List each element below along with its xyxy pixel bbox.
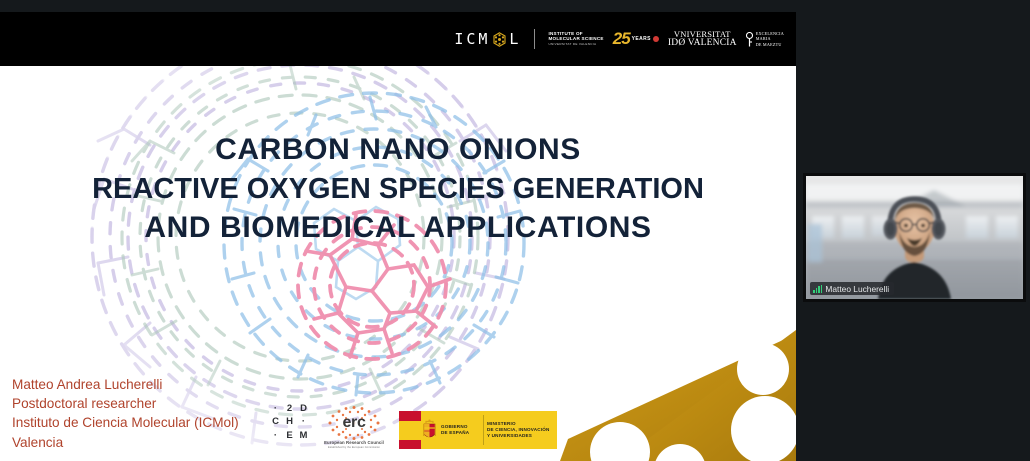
- title-line-1: CARBON NANO ONIONS: [0, 130, 796, 170]
- chem2d-cell-7: E: [284, 430, 295, 443]
- university-line2: IDØ VALENCIA: [668, 39, 737, 49]
- author-block: Matteo Andrea Lucherelli Postdoctoral re…: [12, 375, 239, 452]
- anniversary-logo: 25 YEARS: [613, 29, 659, 49]
- institute-name-block: INSTITUTE OF MOLECULAR SCIENCE UNIVERSIT…: [548, 32, 603, 46]
- slide-header-band: ICM L: [0, 12, 796, 66]
- anniversary-number: 25: [613, 29, 630, 49]
- chem2d-cell-6: ·: [270, 430, 281, 443]
- chem2d-cell-2: D: [298, 403, 309, 416]
- title-line-3: AND BIOMEDICAL APPLICATIONS: [0, 208, 796, 248]
- chem2d-cell-0: ·: [270, 403, 281, 416]
- chem2d-cell-4: H: [284, 416, 295, 429]
- icmol-logo-right: L: [509, 30, 521, 48]
- chem2d-logo: · 2 D C H · · E M: [270, 403, 309, 443]
- ministerio-text: MINISTERIO DE CIENCIA, INNOVACIÓN Y UNIV…: [487, 411, 557, 449]
- author-institute: Instituto de Ciencia Molecular (ICMol): [12, 413, 239, 432]
- institute-line3: UNIVERSITAT DE VALENCIA: [548, 43, 603, 46]
- coat-of-arms-icon: [421, 411, 438, 449]
- title-line-2: REACTIVE OXYGEN SPECIES GENERATION: [0, 170, 796, 209]
- maeztu-line2: MARIA: [756, 36, 771, 41]
- author-city: Valencia: [12, 433, 239, 452]
- maeztu-text: EXCELENCIA MARIA DE MAEZTU: [756, 31, 784, 47]
- gobierno-de-espana-logo: GOBIERNO DE ESPAÑA MINISTERIO DE CIENCIA…: [399, 411, 557, 449]
- meeting-screen: ICM L: [0, 0, 1030, 461]
- gobierno-text: GOBIERNO DE ESPAÑA: [438, 411, 480, 449]
- university-logo: VNIVERSITAT IDØ VALENCIA: [668, 30, 737, 49]
- slide-title: CARBON NANO ONIONS REACTIVE OXYGEN SPECI…: [0, 130, 796, 248]
- erc-logo: erc European Research Council Establishe…: [321, 405, 387, 449]
- erc-caption-2: Established by the European Commission: [321, 446, 387, 449]
- logo-divider: [534, 29, 535, 49]
- chem2d-cell-3: C: [270, 416, 281, 429]
- hexagon-molecule-icon: [493, 32, 506, 47]
- maeztu-line3: DE MAEZTU: [756, 42, 782, 47]
- participant-name: Matteo Lucherelli: [825, 284, 889, 294]
- author-role: Postdoctoral researcher: [12, 394, 239, 413]
- footer-logo-row: · 2 D C H · · E M: [270, 403, 557, 449]
- gobierno-line2: DE ESPAÑA: [441, 430, 480, 436]
- chem2d-cell-1: 2: [284, 403, 295, 416]
- chem2d-cell-8: M: [298, 430, 309, 443]
- window-top-bar: [0, 0, 1030, 12]
- key-icon: [746, 32, 753, 47]
- erc-wordmark: erc: [321, 414, 387, 432]
- audio-level-bars-icon: [813, 285, 822, 293]
- header-logo-row: ICM L: [454, 29, 784, 49]
- chem2d-cell-5: ·: [298, 416, 309, 429]
- erc-dots-icon: erc: [321, 405, 387, 441]
- anniversary-label: YEARS: [632, 36, 651, 42]
- icmol-logo: ICM L: [454, 30, 521, 48]
- shared-slide[interactable]: ICM L: [0, 12, 796, 461]
- icmol-logo-left: ICM: [454, 30, 490, 48]
- anniversary-dot-icon: [653, 36, 659, 42]
- participant-video-tile[interactable]: Matteo Lucherelli: [803, 173, 1026, 302]
- ministerio-line3: Y UNIVERSIDADES: [487, 433, 554, 439]
- maria-de-maeztu-logo: EXCELENCIA MARIA DE MAEZTU: [746, 31, 784, 47]
- spanish-flag-icon: [399, 411, 421, 449]
- participant-name-badge: Matteo Lucherelli: [810, 282, 894, 295]
- author-name: Matteo Andrea Lucherelli: [12, 375, 239, 394]
- maeztu-line1: EXCELENCIA: [756, 31, 784, 36]
- university-line1: VNIVERSITAT: [668, 30, 737, 39]
- gobierno-divider: [483, 415, 484, 445]
- video-feed: Matteo Lucherelli: [806, 176, 1023, 299]
